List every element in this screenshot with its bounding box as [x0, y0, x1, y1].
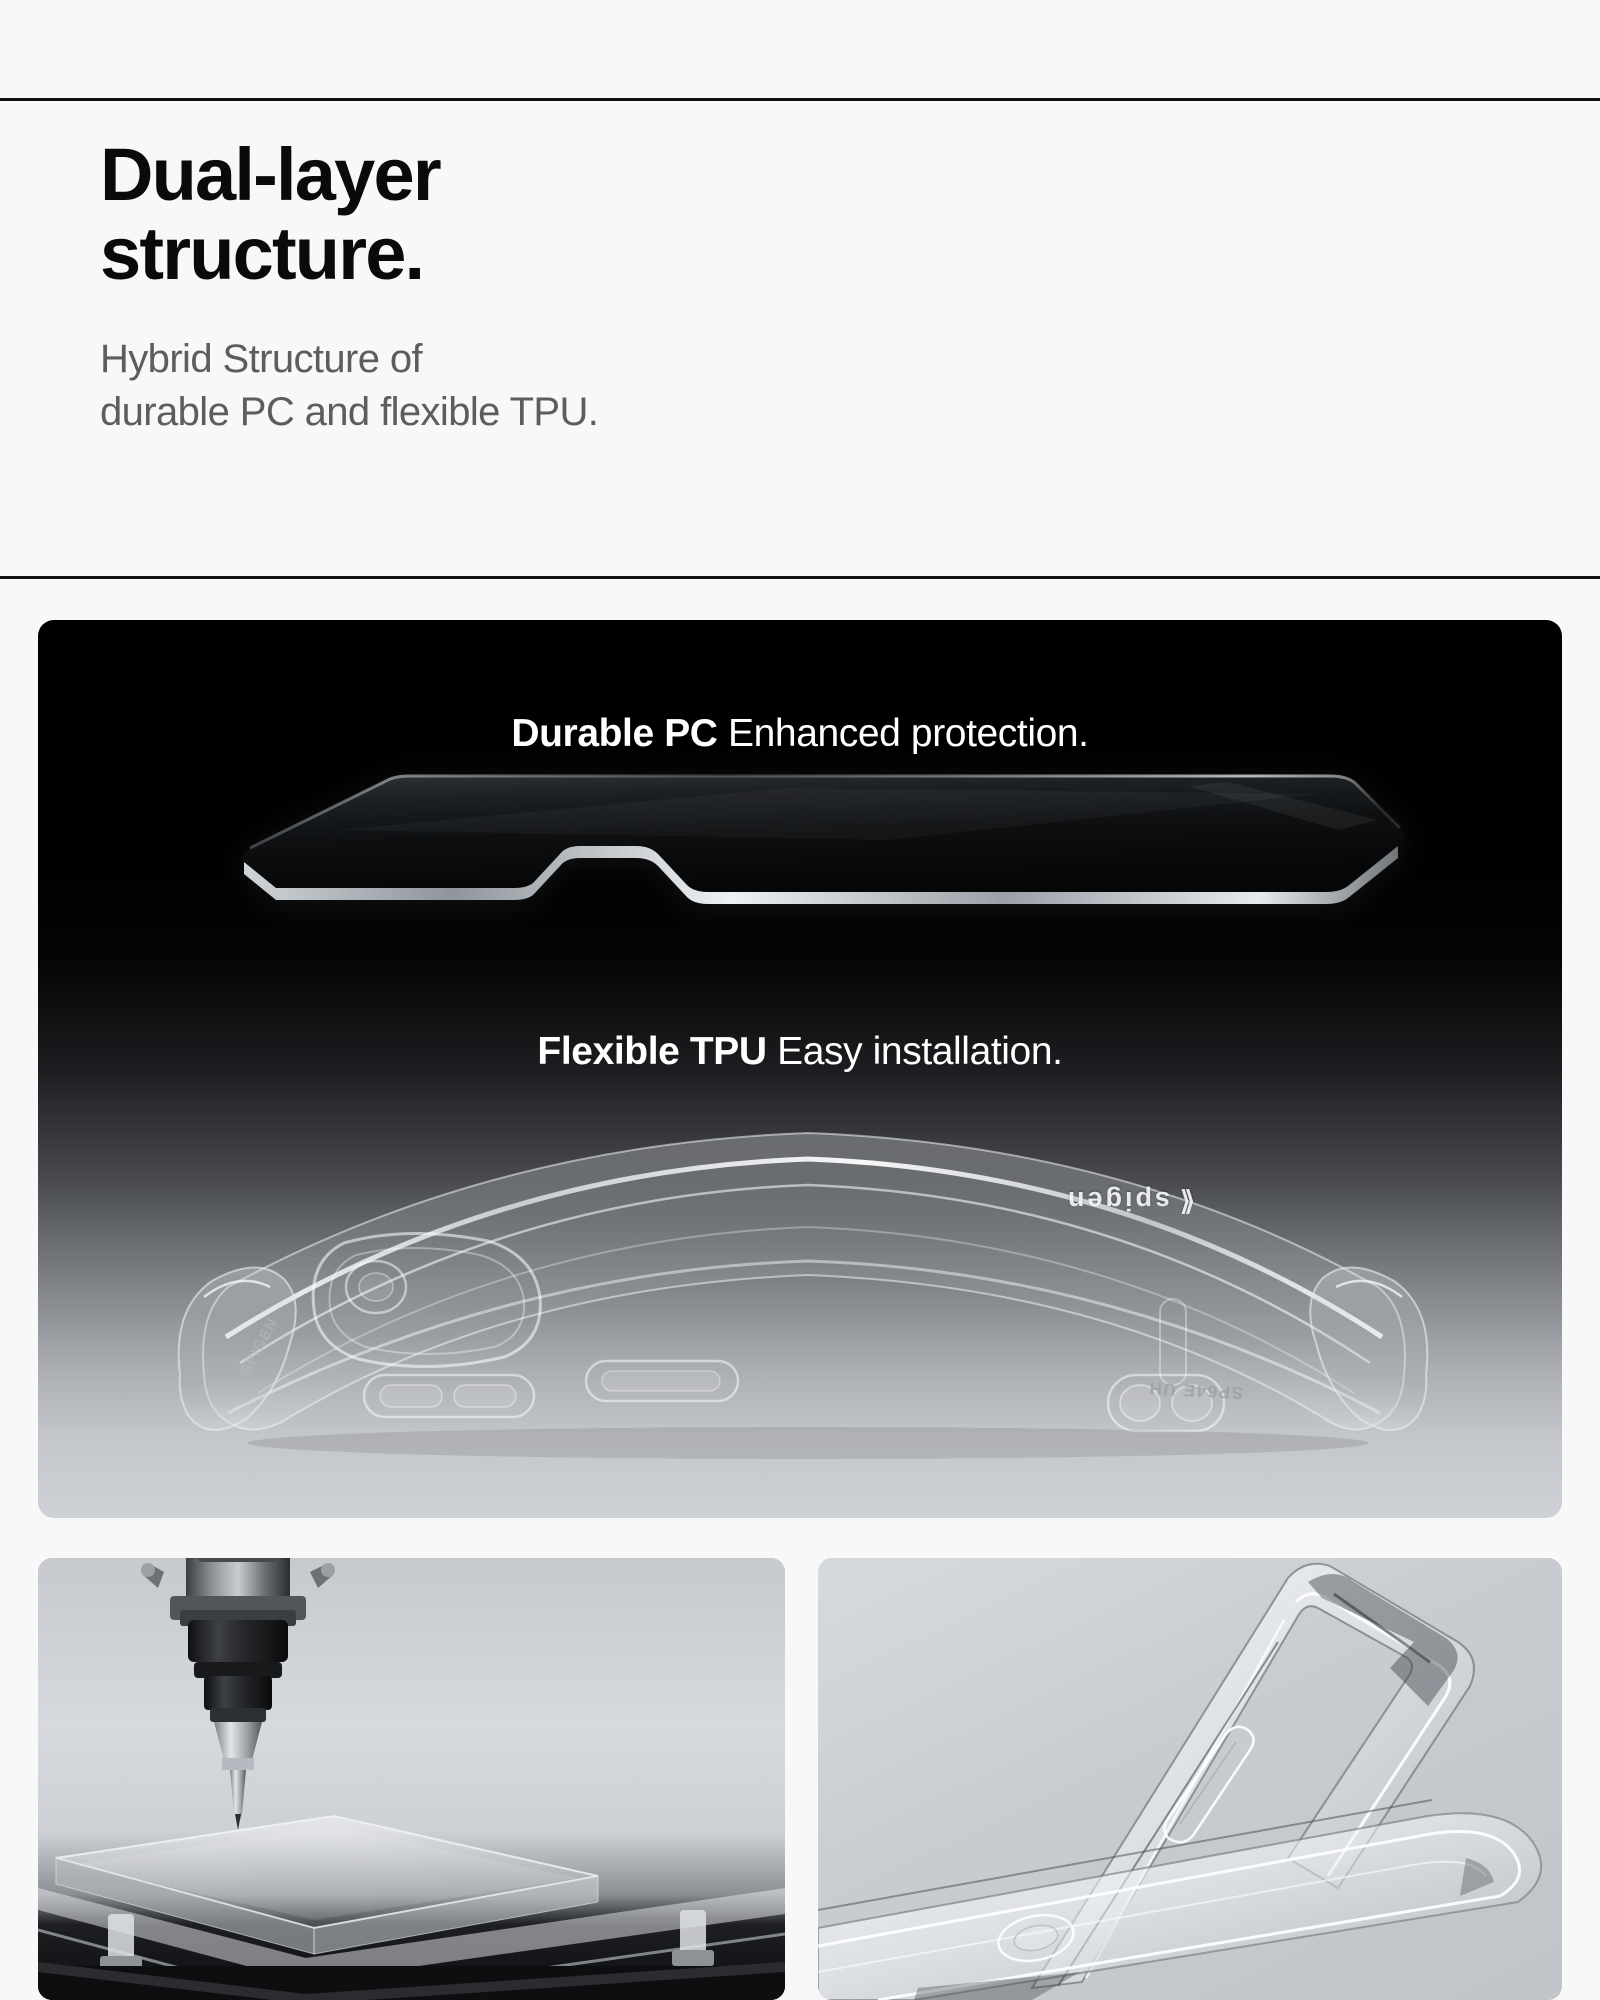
cnc-machining-graphic — [38, 1558, 785, 2000]
spigen-logo-text: spigen — [1065, 1186, 1170, 1216]
hero-label-pc-title: Durable PC — [511, 712, 717, 755]
headline-block: Dual-layer structure. Hybrid Structure o… — [100, 135, 1000, 439]
thumbnail-case-corner-detail[interactable] — [818, 1558, 1562, 2000]
divider-top — [0, 98, 1600, 101]
spigen-mark-icon: ⟪ — [1177, 1186, 1195, 1217]
subhead-line-2: durable PC and flexible TPU. — [100, 386, 1000, 439]
hero-label-durable-pc: Durable PC Enhanced protection. — [38, 712, 1562, 756]
product-feature-page: Dual-layer structure. Hybrid Structure o… — [0, 0, 1600, 2000]
divider-bottom — [0, 576, 1600, 579]
page-subtitle: Hybrid Structure of durable PC and flexi… — [100, 333, 1000, 439]
hero-label-tpu-desc: Easy installation. — [777, 1030, 1062, 1073]
durable-pc-plate-illustration — [188, 770, 1428, 990]
hero-label-pc-desc: Enhanced protection. — [728, 712, 1089, 755]
hero-label-tpu-title: Flexible TPU — [537, 1030, 766, 1073]
case-corner-graphic — [818, 1558, 1562, 2000]
page-title: Dual-layer structure. — [100, 135, 1000, 293]
thumbnail-cnc-machining[interactable] — [38, 1558, 785, 2000]
spigen-logo: ⟪spigen — [1065, 1185, 1195, 1216]
headline-line-2: structure. — [100, 214, 1000, 293]
hero-label-flexible-tpu: Flexible TPU Easy installation. — [38, 1030, 1562, 1074]
subhead-line-1: Hybrid Structure of — [100, 337, 422, 381]
flexible-tpu-case-illustration — [108, 1075, 1498, 1485]
headline-line-1: Dual-layer — [100, 133, 440, 216]
hero-panel: Durable PC Enhanced protection. — [38, 620, 1562, 1518]
